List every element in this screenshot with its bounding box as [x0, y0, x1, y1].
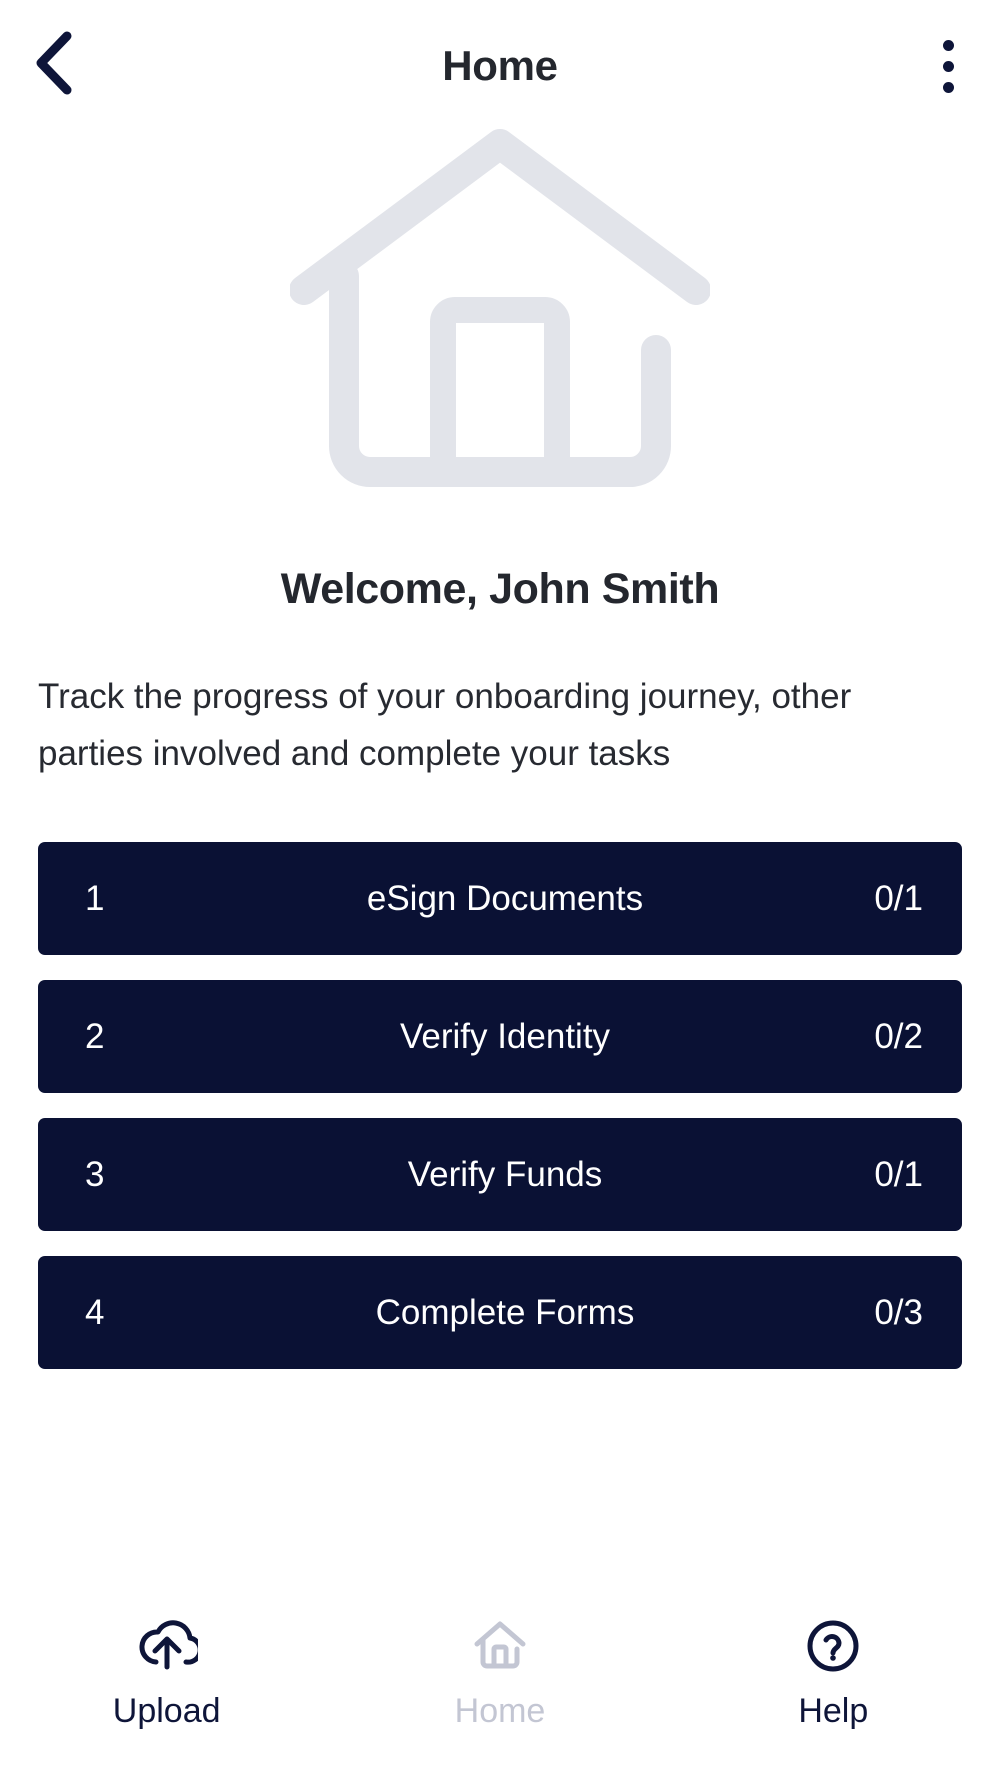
- task-list: 1 eSign Documents 0/1 2 Verify Identity …: [38, 842, 962, 1369]
- onboarding-description: Track the progress of your onboarding jo…: [38, 668, 943, 782]
- task-row-esign-documents[interactable]: 1 eSign Documents 0/1: [38, 842, 962, 955]
- task-index: 1: [85, 879, 104, 919]
- house-outline-illustration: [290, 128, 710, 528]
- task-row-complete-forms[interactable]: 4 Complete Forms 0/3: [38, 1256, 962, 1369]
- nav-label-home: Home: [455, 1692, 546, 1731]
- task-label: Verify Identity: [38, 1017, 962, 1057]
- cloud-upload-icon: [136, 1616, 198, 1676]
- house-illustration: [0, 128, 1000, 538]
- more-vertical-icon-dot-3: [943, 82, 954, 93]
- nav-item-home[interactable]: Home: [333, 1588, 666, 1731]
- page-title: Home: [0, 42, 1000, 90]
- task-index: 2: [85, 1017, 104, 1057]
- task-count-badge: 0/2: [874, 1017, 923, 1057]
- task-row-verify-funds[interactable]: 3 Verify Funds 0/1: [38, 1118, 962, 1231]
- bottom-navigation-bar: Upload Home Help: [0, 1588, 1000, 1778]
- welcome-heading: Welcome, John Smith: [0, 565, 1000, 614]
- help-circle-icon: [802, 1616, 864, 1676]
- task-label: Verify Funds: [38, 1155, 962, 1195]
- task-index: 3: [85, 1155, 104, 1195]
- more-vertical-icon-dot-2: [943, 61, 954, 72]
- task-count-badge: 0/1: [874, 1155, 923, 1195]
- app-header: Home: [0, 0, 1000, 128]
- task-label: eSign Documents: [38, 879, 962, 919]
- task-label: Complete Forms: [38, 1293, 962, 1333]
- nav-item-upload[interactable]: Upload: [0, 1588, 333, 1731]
- nav-label-help: Help: [798, 1692, 868, 1731]
- task-count-badge: 0/1: [874, 879, 923, 919]
- nav-item-help[interactable]: Help: [667, 1588, 1000, 1731]
- overflow-menu-button[interactable]: [916, 28, 980, 104]
- task-count-badge: 0/3: [874, 1293, 923, 1333]
- home-icon: [469, 1616, 531, 1676]
- more-vertical-icon-dot-1: [943, 40, 954, 51]
- task-index: 4: [85, 1293, 104, 1333]
- nav-label-upload: Upload: [113, 1692, 221, 1731]
- task-row-verify-identity[interactable]: 2 Verify Identity 0/2: [38, 980, 962, 1093]
